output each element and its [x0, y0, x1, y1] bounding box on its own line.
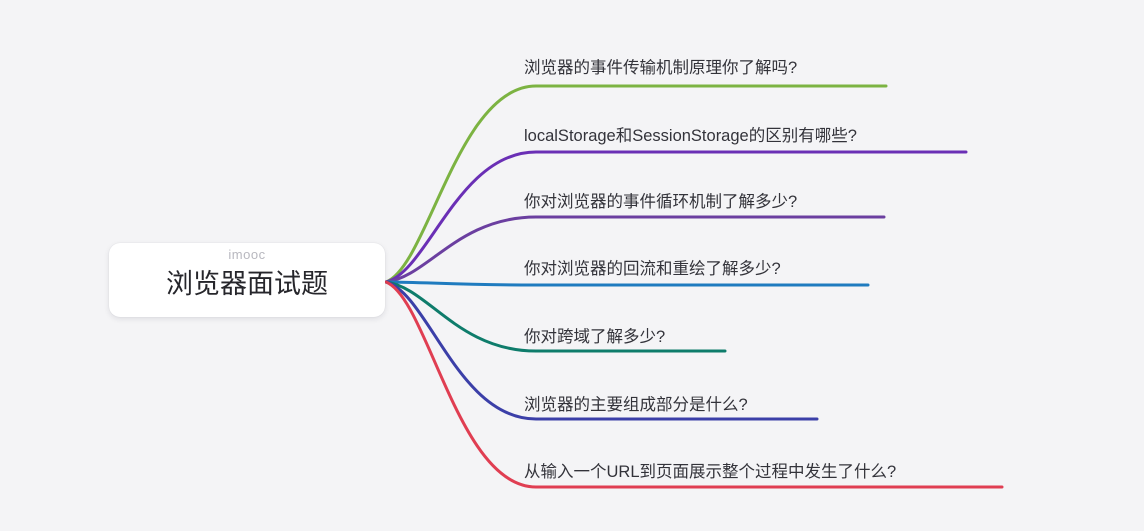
branch-connector [386, 282, 868, 285]
branch-label[interactable]: 浏览器的事件传输机制原理你了解吗? [524, 60, 797, 77]
root-watermark: imooc [109, 248, 385, 261]
branch-connector [386, 86, 886, 282]
root-node[interactable]: imooc 浏览器面试题 [109, 243, 385, 317]
branch-label[interactable]: 你对浏览器的事件循环机制了解多少? [524, 194, 797, 211]
branch-label[interactable]: localStorage和SessionStorage的区别有哪些? [524, 128, 857, 145]
root-title: 浏览器面试题 [109, 266, 385, 302]
branch-label[interactable]: 你对跨域了解多少? [524, 329, 665, 346]
branch-connector [386, 282, 1002, 487]
branch-label[interactable]: 你对浏览器的回流和重绘了解多少? [524, 261, 781, 278]
branch-label[interactable]: 从输入一个URL到页面展示整个过程中发生了什么? [524, 464, 896, 481]
mindmap-canvas: imooc 浏览器面试题 浏览器的事件传输机制原理你了解吗?localStora… [0, 0, 1144, 531]
branch-label[interactable]: 浏览器的主要组成部分是什么? [524, 397, 748, 414]
